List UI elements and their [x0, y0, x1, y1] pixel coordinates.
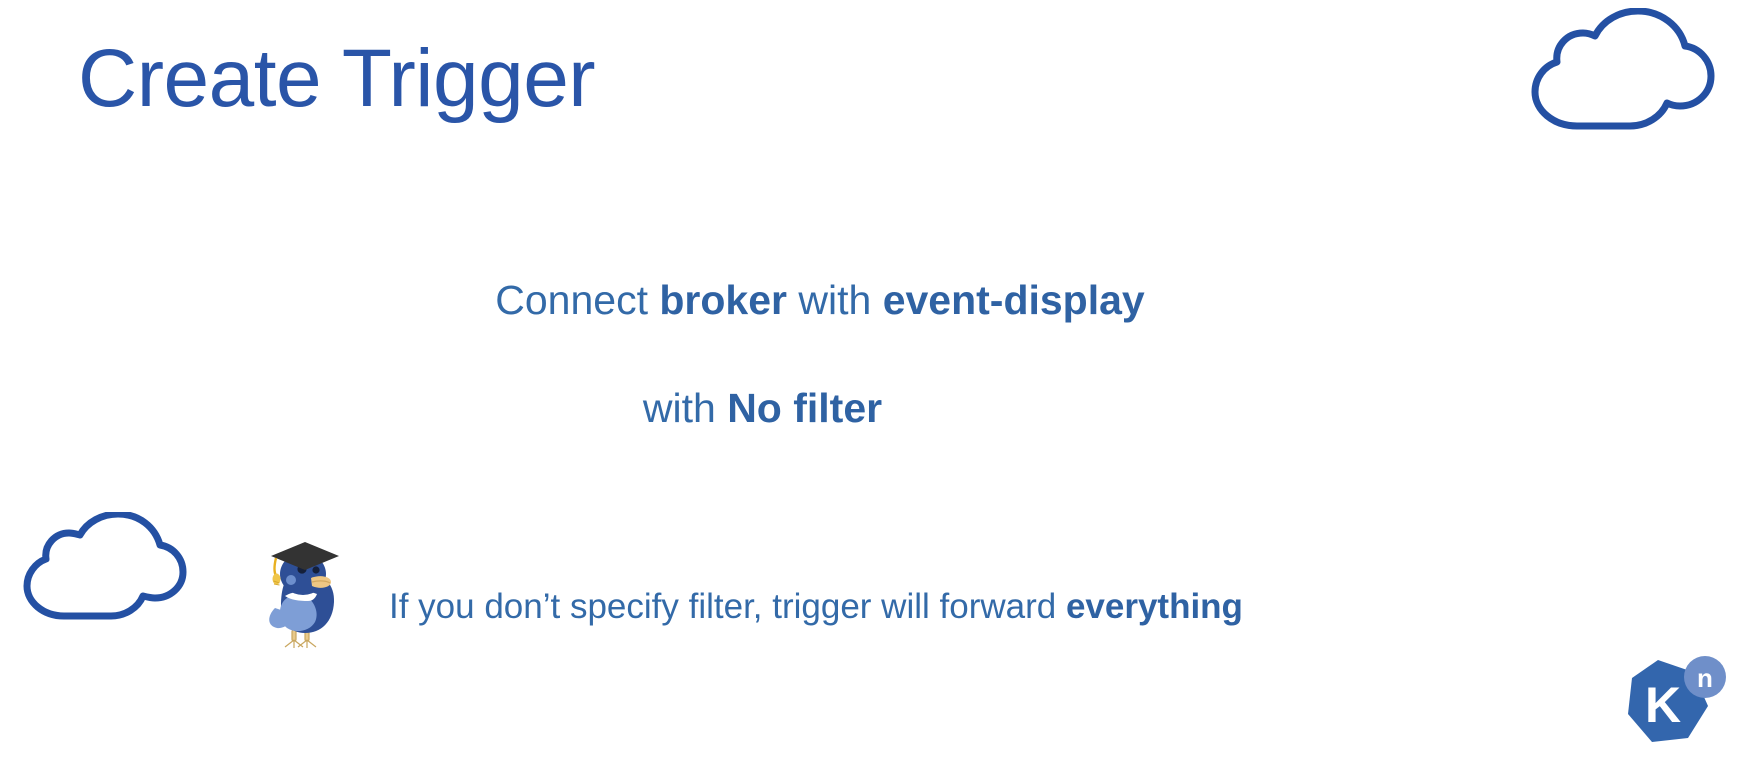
graduate-bird-icon	[265, 534, 345, 652]
note-text-emphasis: everything	[1066, 587, 1243, 626]
slide-canvas: Create Trigger Connect broker with event…	[0, 0, 1750, 766]
statement-connect: Connect broker with event-display	[0, 277, 1750, 324]
statement-connect-broker: broker	[659, 277, 787, 323]
note-text-prefix: If you don’t specify filter, trigger wil…	[389, 587, 1066, 626]
knative-logo-letter-k: K	[1645, 677, 1681, 733]
statement-filter-value: No filter	[727, 385, 882, 431]
cloud-outline-icon	[1525, 8, 1720, 133]
statement-connect-middle: with	[787, 277, 883, 323]
page-title: Create Trigger	[78, 36, 595, 122]
statement-filter-prefix: with	[643, 385, 727, 431]
statement-connect-event-display: event-display	[883, 277, 1145, 323]
cloud-outline-icon	[18, 512, 193, 622]
statement-filter: with No filter	[0, 385, 1750, 432]
knative-logo-icon: K n	[1618, 650, 1726, 754]
knative-logo-letter-n: n	[1697, 663, 1713, 693]
statement-connect-prefix: Connect	[495, 277, 659, 323]
note-text: If you don’t specify filter, trigger wil…	[389, 587, 1243, 627]
note-row: If you don’t specify filter, trigger wil…	[265, 534, 1243, 652]
